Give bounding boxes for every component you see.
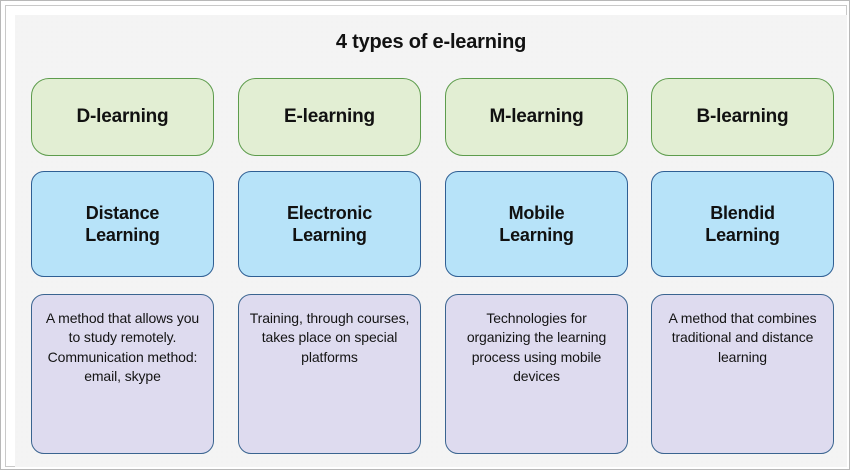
expansion-label: ElectronicLearning [287,202,372,247]
abbreviation-box-e-learning[interactable]: E-learning [238,78,421,156]
description-text: A method that allows you to study remote… [42,309,203,386]
expansion-label: MobileLearning [499,202,573,247]
expansion-box-blendid-learning[interactable]: BlendidLearning [651,171,834,277]
expansion-label: DistanceLearning [85,202,159,247]
expansion-label: BlendidLearning [705,202,779,247]
diagram-title: 4 types of e-learning [15,31,847,54]
abbreviation-label: M-learning [489,106,583,128]
description-text: Training, through courses, takes place o… [249,309,410,367]
description-text: Technologies for organizing the learning… [456,309,617,386]
diagram-outer-frame: 4 types of e-learning D-learning E-learn… [0,0,850,470]
description-box-d-learning[interactable]: A method that allows you to study remote… [31,294,214,454]
abbreviation-label: D-learning [77,106,169,128]
diagram-canvas: 4 types of e-learning D-learning E-learn… [15,15,847,467]
expansion-box-distance-learning[interactable]: DistanceLearning [31,171,214,277]
abbreviation-box-m-learning[interactable]: M-learning [445,78,628,156]
description-text: A method that combines traditional and d… [662,309,823,367]
expansion-row: DistanceLearning ElectronicLearning Mobi… [15,171,847,277]
abbreviation-row: D-learning E-learning M-learning B-learn… [15,78,847,156]
description-box-e-learning[interactable]: Training, through courses, takes place o… [238,294,421,454]
description-box-m-learning[interactable]: Technologies for organizing the learning… [445,294,628,454]
abbreviation-box-b-learning[interactable]: B-learning [651,78,834,156]
description-box-b-learning[interactable]: A method that combines traditional and d… [651,294,834,454]
expansion-box-electronic-learning[interactable]: ElectronicLearning [238,171,421,277]
expansion-box-mobile-learning[interactable]: MobileLearning [445,171,628,277]
abbreviation-label: E-learning [284,106,375,128]
abbreviation-label: B-learning [697,106,789,128]
abbreviation-box-d-learning[interactable]: D-learning [31,78,214,156]
diagram-inner-frame: 4 types of e-learning D-learning E-learn… [5,5,847,467]
description-row: A method that allows you to study remote… [15,294,847,454]
